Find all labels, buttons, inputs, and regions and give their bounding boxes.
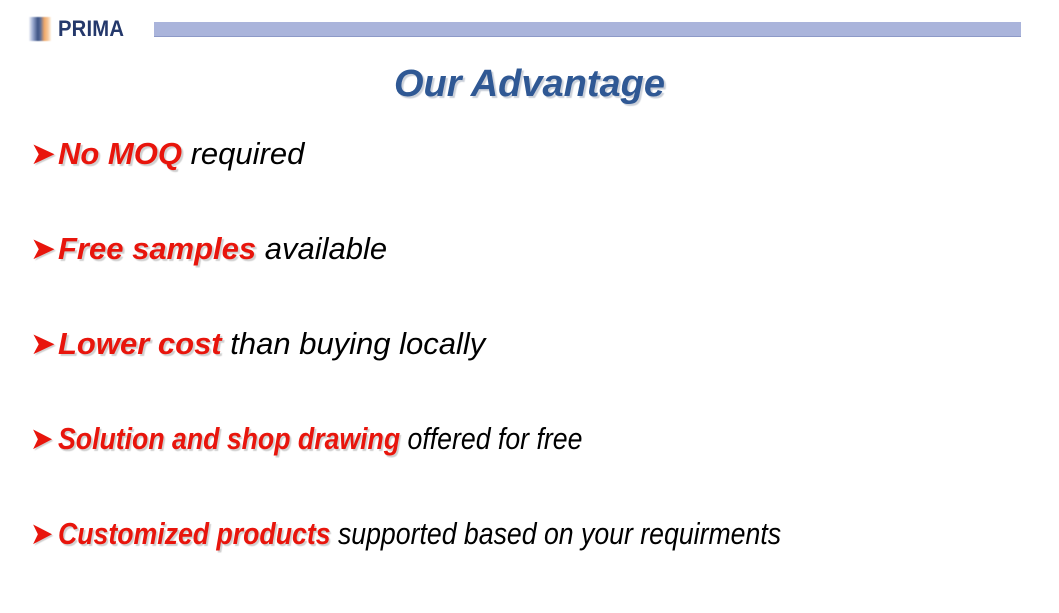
page-title: Our Advantage <box>0 63 1059 106</box>
list-item: ➤ No MOQ required <box>30 138 1055 233</box>
list-item-highlight: Free samples <box>58 231 256 266</box>
list-item-rest: offered for free <box>400 421 582 456</box>
list-item: ➤ Free samples available <box>30 233 1055 328</box>
list-item-rest: available <box>256 231 387 266</box>
arrow-bullet-icon: ➤ <box>30 423 53 454</box>
arrow-bullet-icon: ➤ <box>30 233 56 264</box>
list-item-text: Solution and shop drawing offered for fr… <box>58 423 582 454</box>
arrow-bullet-icon: ➤ <box>30 328 56 359</box>
list-item-rest: than buying locally <box>222 326 486 361</box>
list-item-highlight: No MOQ <box>58 136 182 171</box>
brand-logo: PRIMA <box>29 16 130 42</box>
list-item-highlight: Solution and shop drawing <box>58 421 400 456</box>
advantage-bullet-list: ➤ No MOQ required ➤ Free samples availab… <box>30 138 1055 613</box>
list-item-rest: required <box>182 136 304 171</box>
list-item-highlight: Customized products <box>58 516 331 551</box>
arrow-bullet-icon: ➤ <box>30 518 53 549</box>
list-item-text: No MOQ required <box>58 138 304 169</box>
list-item-rest: supported based on your requirments <box>331 516 782 551</box>
list-item-text: Customized products supported based on y… <box>58 518 781 549</box>
header-accent-bar <box>154 22 1021 37</box>
list-item-highlight: Lower cost <box>58 326 222 361</box>
list-item: ➤ Customized products supported based on… <box>30 518 1055 613</box>
brand-name: PRIMA <box>58 17 124 41</box>
prima-logo-icon <box>29 17 51 41</box>
list-item: ➤ Solution and shop drawing offered for … <box>30 423 1055 518</box>
slide-header: PRIMA <box>0 0 1059 50</box>
list-item: ➤ Lower cost than buying locally <box>30 328 1055 423</box>
arrow-bullet-icon: ➤ <box>30 138 56 169</box>
list-item-text: Free samples available <box>58 233 387 264</box>
list-item-text: Lower cost than buying locally <box>58 328 485 359</box>
